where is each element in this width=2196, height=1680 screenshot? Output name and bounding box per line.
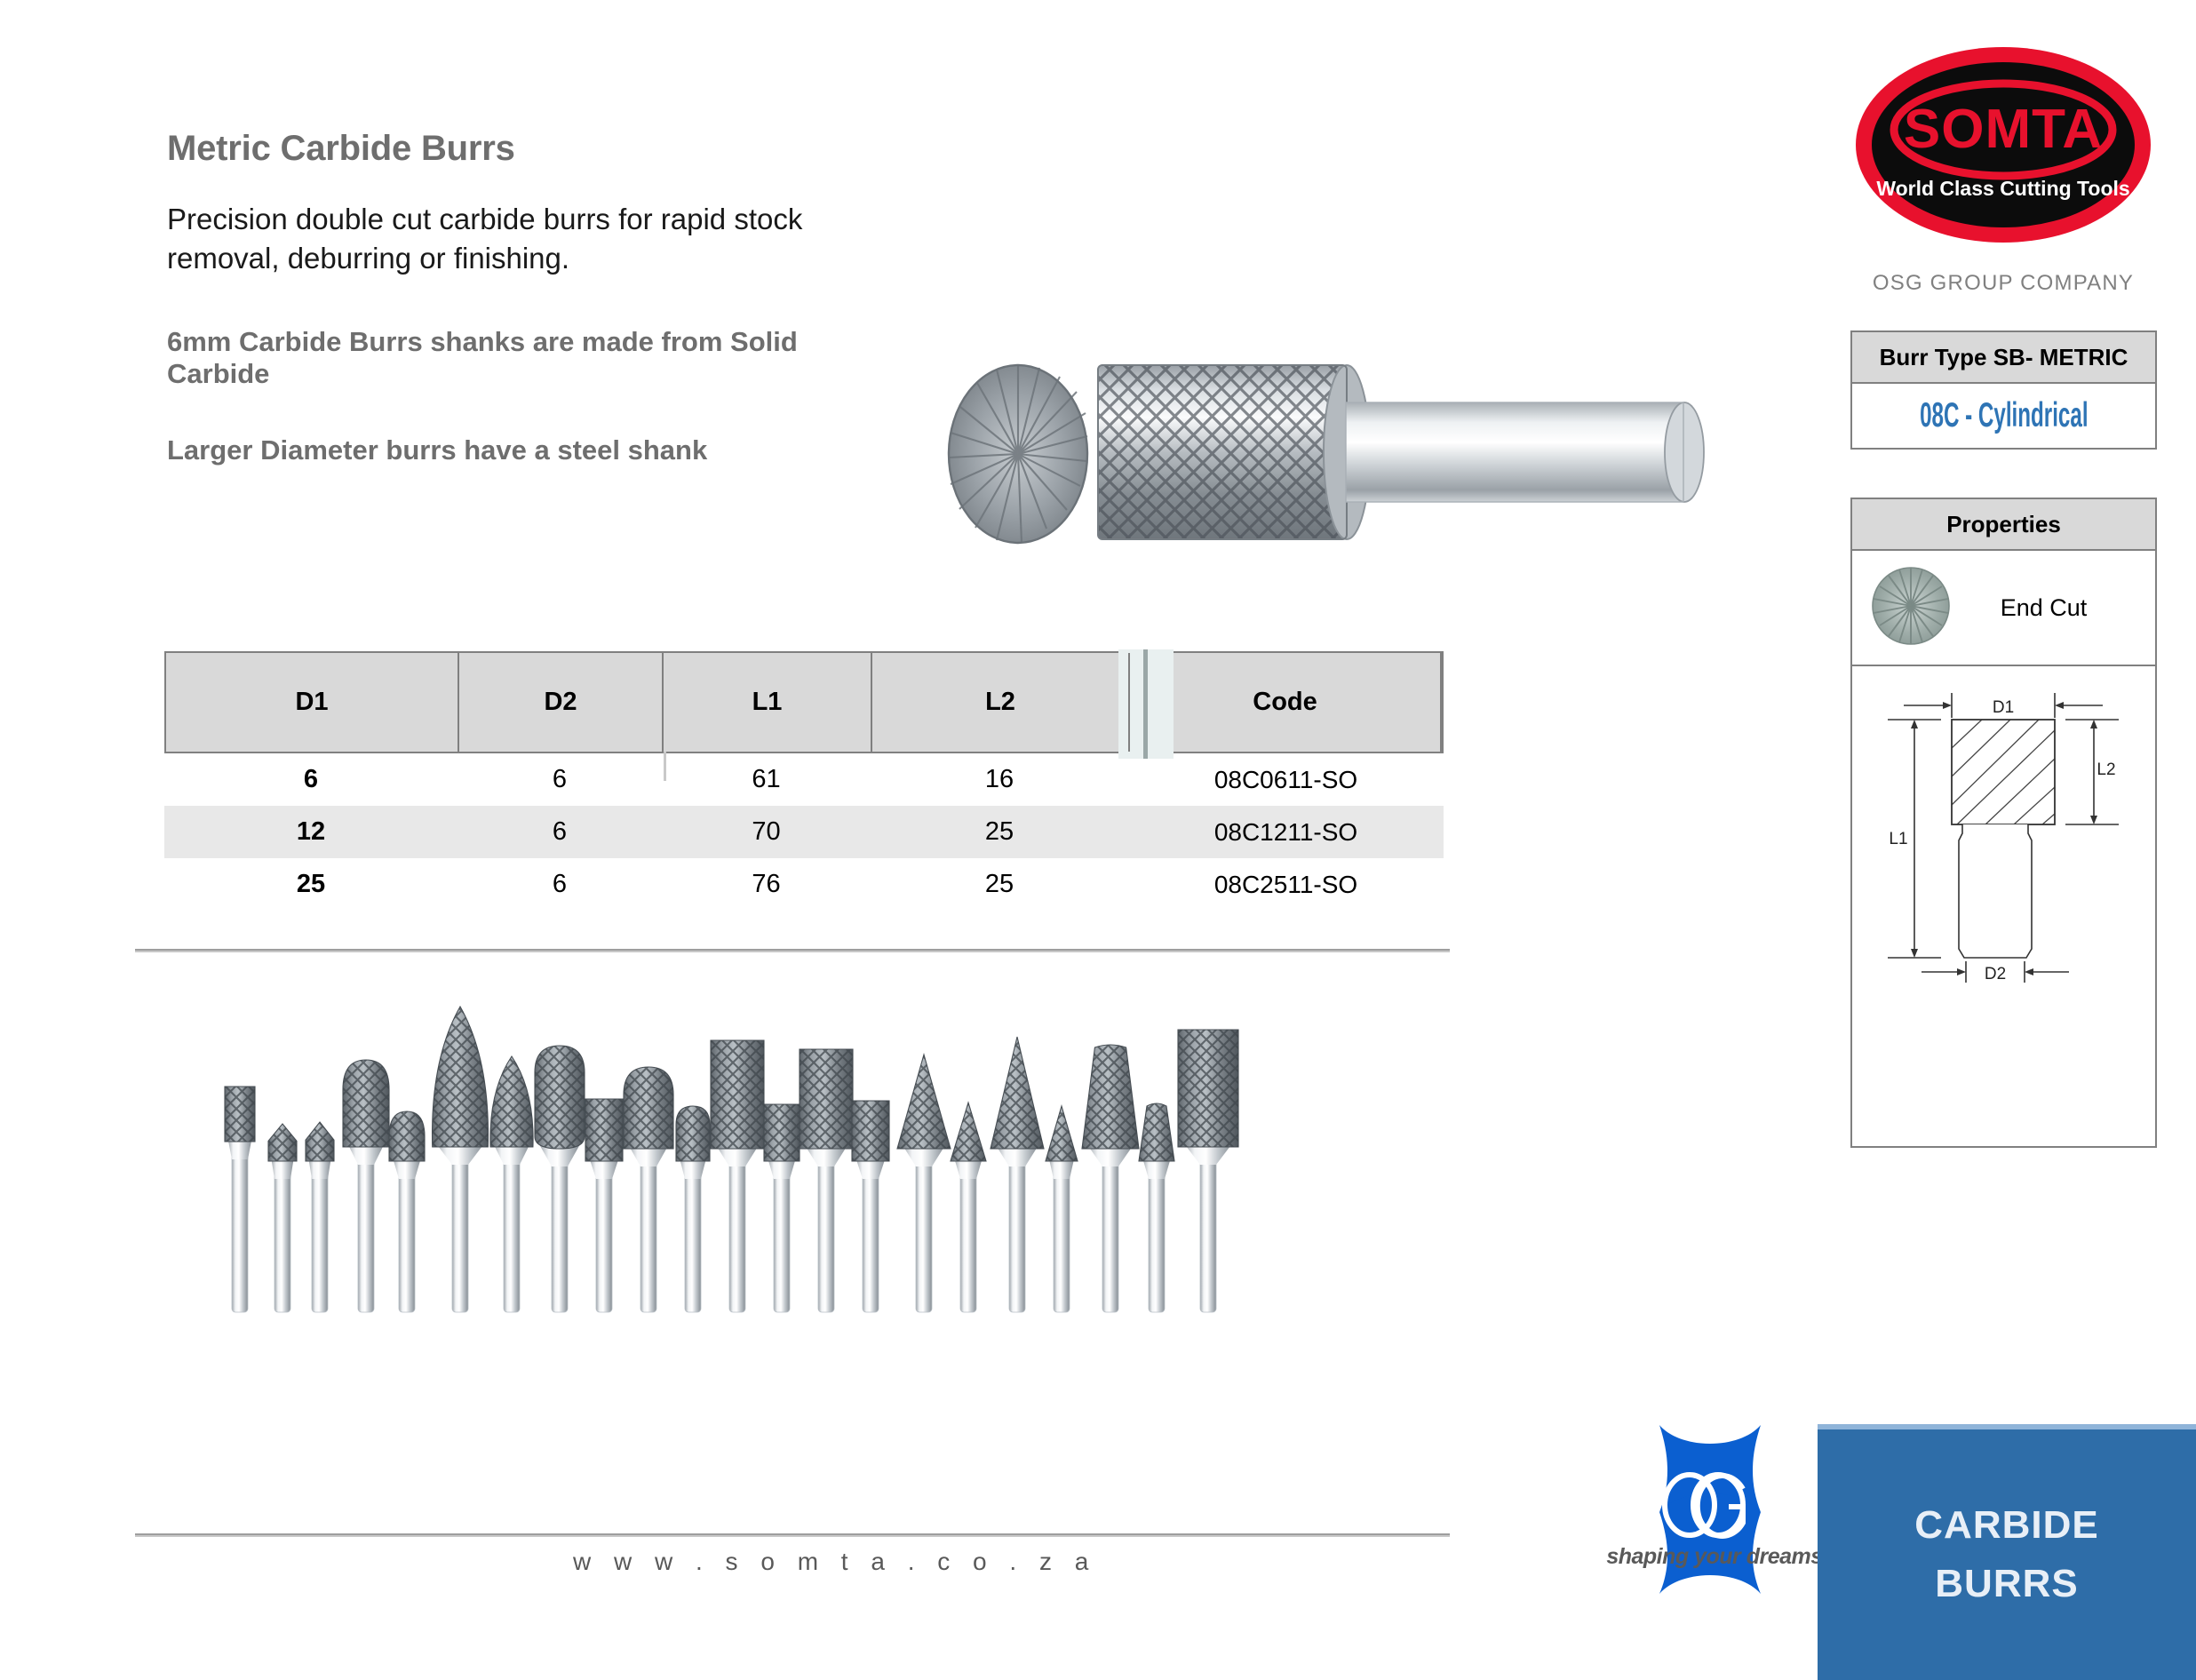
properties-panel: Properties	[1850, 498, 2157, 1148]
category-line-1: CARBIDE	[1914, 1503, 2098, 1548]
properties-heading: Properties	[1852, 499, 2155, 551]
table-row: 6 6 61 16 08C0611-SO	[164, 753, 1444, 806]
table-header-row: D1 D2 L1 L2 Code	[164, 651, 1444, 753]
cell-code: 08C2511-SO	[1128, 858, 1444, 911]
osg-logo	[1626, 1420, 1794, 1597]
technical-drawing: D1	[1852, 666, 2155, 1146]
cell-l1: 70	[662, 806, 871, 858]
column-header-l1: L1	[664, 653, 872, 752]
osg-tagline: shaping your dreams	[1590, 1544, 1839, 1570]
table-row: 12 6 70 25 08C1211-SO	[164, 806, 1444, 858]
burr-type-body: 08C - Cylindrical	[1852, 384, 2155, 448]
cell-l2: 16	[871, 753, 1128, 806]
cell-l1: 61	[662, 753, 871, 806]
svg-text:SOMTA: SOMTA	[1904, 99, 2103, 160]
burr-type-heading: Burr Type SB- METRIC	[1852, 332, 2155, 384]
somta-logo: SOMTA World Class Cutting Tools	[1852, 43, 2154, 247]
column-header-code: Code	[1130, 653, 1442, 752]
burr-type-value: 08C - Cylindrical	[1920, 396, 2088, 435]
website-url[interactable]: w w w . s o m t a . c o . z a	[573, 1548, 1096, 1576]
note-steel-shank: Larger Diameter burrs have a steel shank	[167, 434, 878, 466]
cell-d2: 6	[457, 806, 662, 858]
drawing-label-l1: L1	[1889, 830, 1907, 848]
section-divider-rule	[135, 949, 1450, 952]
cell-l2: 25	[871, 806, 1128, 858]
osg-group-label: OSG GROUP COMPANY	[1852, 271, 2154, 296]
footer-divider-rule	[135, 1533, 1450, 1537]
column-header-d2: D2	[459, 653, 664, 752]
burr-type-panel: Burr Type SB- METRIC 08C - Cylindrical	[1850, 330, 2157, 450]
category-line-2: BURRS	[1935, 1562, 2078, 1606]
product-photo-cylindrical-burr	[942, 351, 1741, 551]
property-row-end-cut: End Cut	[1852, 551, 2155, 666]
column-header-l2: L2	[872, 653, 1130, 752]
page-title: Metric Carbide Burrs	[167, 129, 515, 169]
column-header-d1: D1	[166, 653, 459, 752]
datasheet-page: Metric Carbide Burrs Precision double cu…	[0, 0, 2196, 1680]
drawing-label-d2: D2	[1985, 965, 2006, 983]
drawing-label-l2: L2	[2097, 760, 2115, 779]
property-label-end-cut: End Cut	[1932, 594, 2155, 622]
cell-d1: 6	[164, 753, 457, 806]
category-banner: CARBIDE BURRS	[1818, 1424, 2196, 1680]
cell-code: 08C1211-SO	[1128, 806, 1444, 858]
cell-l1: 76	[662, 858, 871, 911]
cell-d1: 25	[164, 858, 457, 911]
cell-d2: 6	[457, 858, 662, 911]
end-cut-face	[949, 365, 1087, 543]
cell-d2: 6	[457, 753, 662, 806]
drawing-label-d1: D1	[1993, 698, 2014, 717]
table-row: 25 6 76 25 08C2511-SO	[164, 858, 1444, 911]
burr-cutting-body	[1098, 365, 1370, 539]
cell-code: 08C0611-SO	[1128, 753, 1444, 806]
note-solid-carbide: 6mm Carbide Burrs shanks are made from S…	[167, 326, 842, 391]
intro-paragraph: Precision double cut carbide burrs for r…	[167, 200, 878, 278]
burr-range-photo	[213, 982, 1341, 1333]
cell-d1: 12	[164, 806, 457, 858]
svg-text:World Class Cutting Tools: World Class Cutting Tools	[1876, 177, 2129, 200]
burr-shank	[1346, 402, 1704, 502]
specification-table: D1 D2 L1 L2 Code 6 6 61 16 08C0611-SO 12…	[164, 651, 1444, 911]
cell-l2: 25	[871, 858, 1128, 911]
